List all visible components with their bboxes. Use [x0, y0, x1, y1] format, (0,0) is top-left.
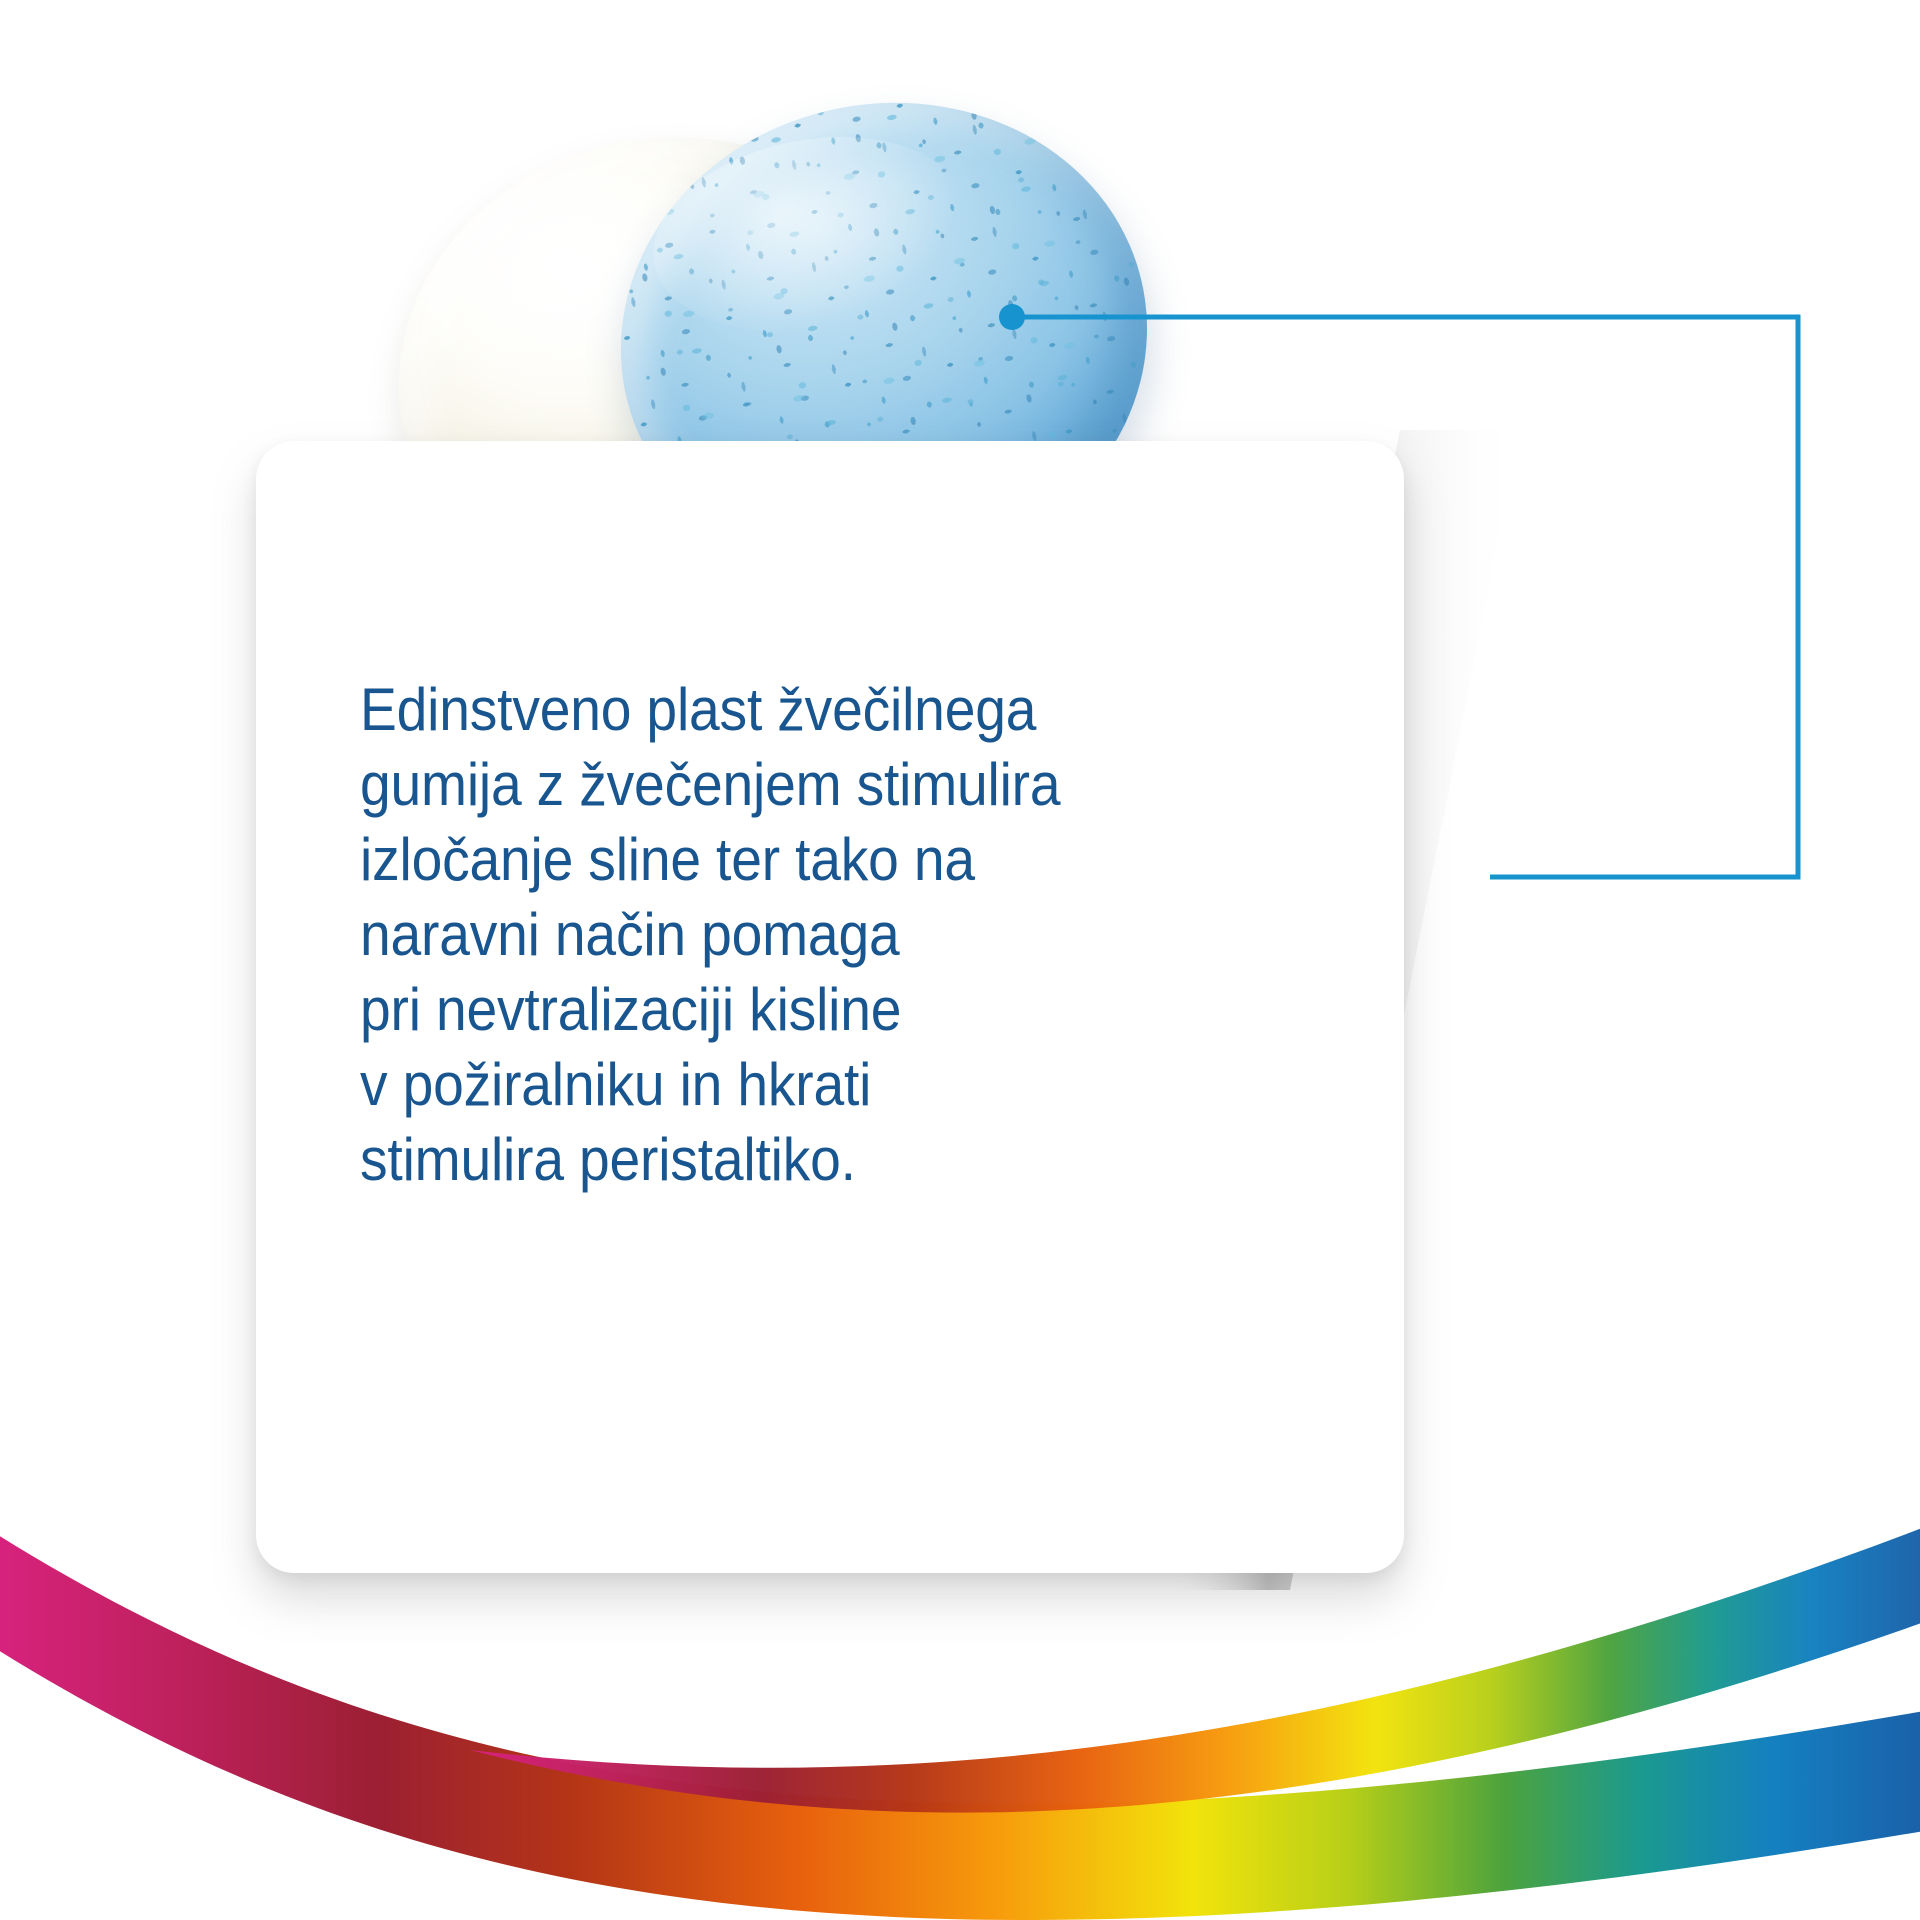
swoosh-band-front	[0, 1530, 1920, 1920]
tablet-highlight	[636, 111, 983, 356]
benefit-card-text: Edinstveno plast žvečilnega gumija z žve…	[360, 672, 1188, 1197]
callout-dot	[999, 304, 1025, 330]
poster-canvas: Edinstveno plast žvečilnega gumija z žve…	[0, 0, 1920, 1920]
